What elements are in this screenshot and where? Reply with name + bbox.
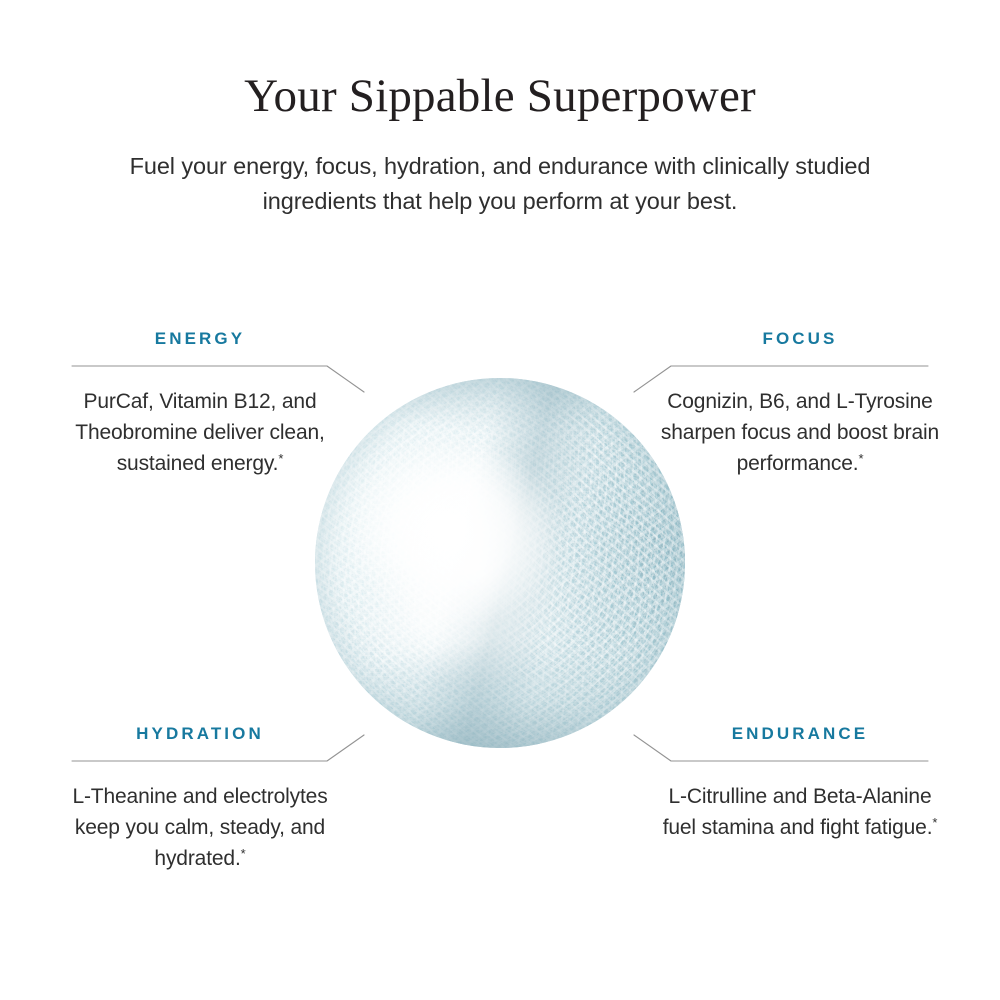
feature-hydration-footnote-marker: * — [241, 846, 246, 861]
powder-sphere-image — [315, 378, 685, 748]
infographic-canvas: Your Sippable Superpower Fuel your energ… — [0, 0, 1000, 1000]
feature-energy-footnote-marker: * — [278, 451, 283, 466]
feature-endurance: ENDURANCE L-Citrulline and Beta-Alanine … — [650, 725, 950, 843]
feature-hydration-body-text: L-Theanine and electrolytes keep you cal… — [72, 785, 327, 870]
feature-energy: ENERGY PurCaf, Vitamin B12, and Theobrom… — [50, 330, 350, 479]
page-subtitle: Fuel your energy, focus, hydration, and … — [85, 123, 915, 219]
page-title: Your Sippable Superpower — [0, 0, 1000, 123]
powder-inner-edge — [315, 378, 685, 748]
feature-endurance-body-text: L-Citrulline and Beta-Alanine fuel stami… — [663, 785, 933, 839]
feature-energy-body: PurCaf, Vitamin B12, and Theobromine del… — [50, 347, 350, 479]
feature-energy-label: ENERGY — [50, 330, 350, 347]
feature-focus: FOCUS Cognizin, B6, and L-Tyrosine sharp… — [650, 330, 950, 479]
header: Your Sippable Superpower Fuel your energ… — [0, 0, 1000, 219]
feature-energy-body-text: PurCaf, Vitamin B12, and Theobromine del… — [75, 390, 324, 475]
feature-focus-footnote-marker: * — [859, 451, 864, 466]
feature-focus-body: Cognizin, B6, and L-Tyrosine sharpen foc… — [650, 347, 950, 479]
feature-focus-body-text: Cognizin, B6, and L-Tyrosine sharpen foc… — [661, 390, 939, 475]
feature-endurance-body: L-Citrulline and Beta-Alanine fuel stami… — [650, 742, 950, 843]
feature-focus-label: FOCUS — [650, 330, 950, 347]
feature-hydration-label: HYDRATION — [50, 725, 350, 742]
feature-hydration-body: L-Theanine and electrolytes keep you cal… — [50, 742, 350, 874]
feature-endurance-footnote-marker: * — [932, 815, 937, 830]
feature-endurance-label: ENDURANCE — [650, 725, 950, 742]
feature-hydration: HYDRATION L-Theanine and electrolytes ke… — [50, 725, 350, 874]
